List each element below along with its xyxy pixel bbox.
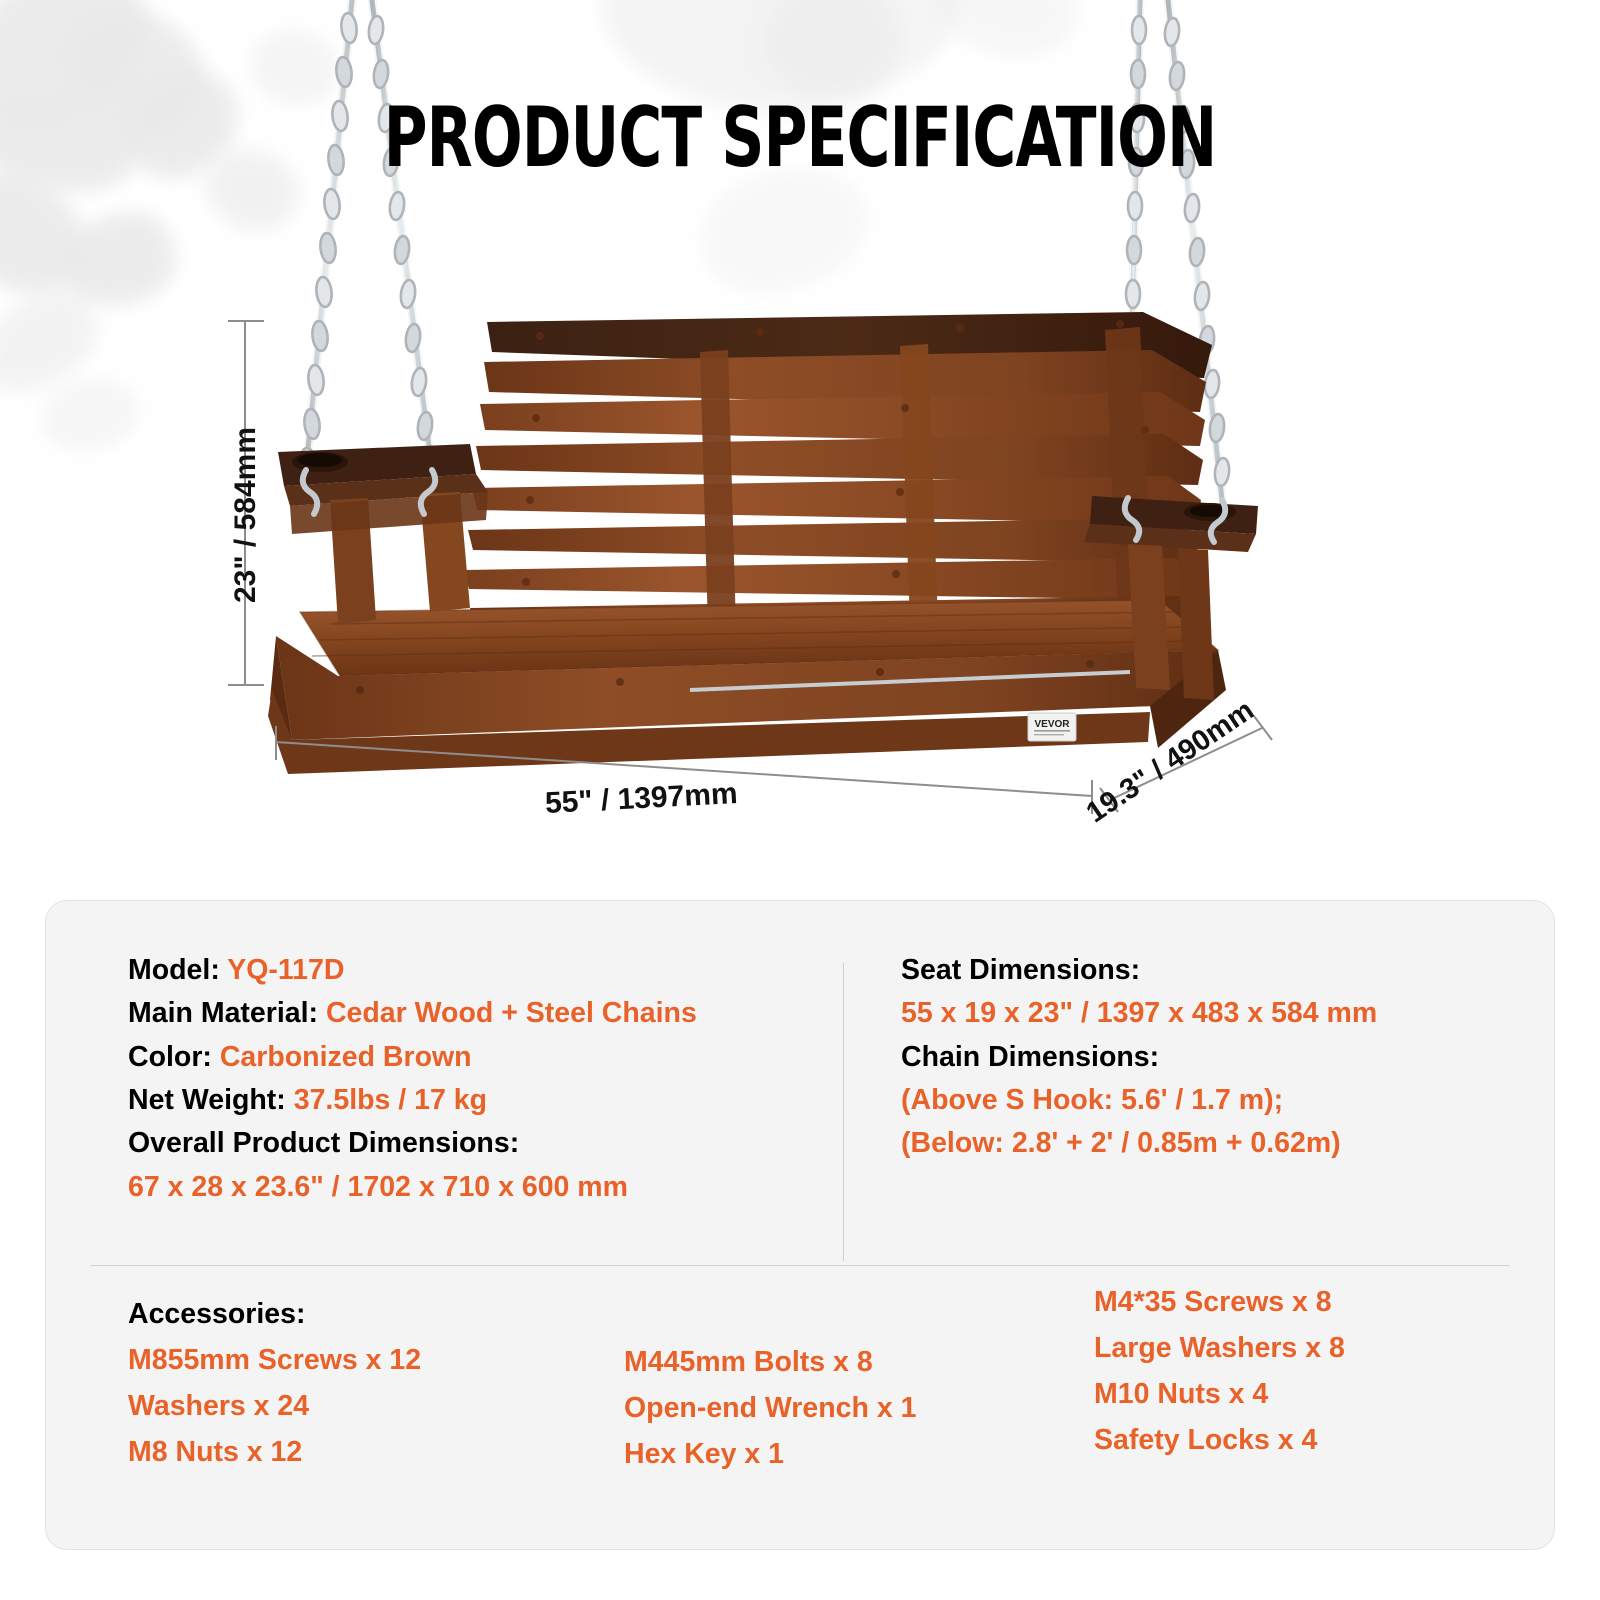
accessory-item: M855mm Screws x 12 [128, 1337, 421, 1383]
spec-value-chain-above: (Above S Hook: 5.6' / 1.7 m); [901, 1079, 1377, 1122]
spec-column-right: Seat Dimensions: 55 x 19 x 23" / 1397 x … [901, 949, 1377, 1166]
spec-label-model: Model: [128, 954, 220, 986]
backrest [464, 312, 1212, 635]
section-divider [91, 1265, 1509, 1266]
seat [268, 600, 1226, 774]
spec-value-color: Carbonized Brown [220, 1041, 472, 1073]
accessory-item: M8 Nuts x 12 [128, 1429, 421, 1475]
accessory-item: M4*35 Screws x 8 [1094, 1279, 1345, 1325]
accessory-item: M10 Nuts x 4 [1094, 1371, 1345, 1417]
spec-row-model: Model: YQ-117D [128, 949, 697, 992]
column-divider [843, 963, 844, 1261]
left-armrest [278, 444, 488, 624]
spec-label-material: Main Material: [128, 997, 318, 1029]
vevor-brand-label: VEVOR [1028, 713, 1076, 741]
spec-column-left: Model: YQ-117D Main Material: Cedar Wood… [128, 949, 697, 1209]
spec-row-color: Color: Carbonized Brown [128, 1036, 697, 1079]
spec-columns: Model: YQ-117D Main Material: Cedar Wood… [46, 901, 1554, 1251]
accessory-item: Washers x 24 [128, 1383, 421, 1429]
spec-value-overall-dimensions: 67 x 28 x 23.6" / 1702 x 710 x 600 mm [128, 1166, 697, 1209]
accessory-item: Large Washers x 8 [1094, 1325, 1345, 1371]
spec-label-chain-dimensions: Chain Dimensions: [901, 1036, 1377, 1079]
accessory-item: M445mm Bolts x 8 [624, 1339, 916, 1385]
spec-value-chain-below: (Below: 2.8' + 2' / 0.85m + 0.62m) [901, 1122, 1377, 1165]
accessory-item: Hex Key x 1 [624, 1431, 916, 1477]
accessories-column-3: M4*35 Screws x 8 Large Washers x 8 M10 N… [1094, 1279, 1345, 1464]
accessories-section: Accessories: M855mm Screws x 12 Washers … [46, 1279, 1554, 1529]
accessories-column-2: M445mm Bolts x 8 Open-end Wrench x 1 Hex… [624, 1339, 916, 1477]
accessories-column-1: Accessories: M855mm Screws x 12 Washers … [128, 1291, 421, 1476]
accessory-item: Safety Locks x 4 [1094, 1417, 1345, 1463]
spec-value-material: Cedar Wood + Steel Chains [326, 997, 697, 1029]
spec-value-model: YQ-117D [227, 954, 344, 986]
specification-panel: Model: YQ-117D Main Material: Cedar Wood… [45, 900, 1555, 1550]
spec-label-seat-dimensions: Seat Dimensions: [901, 949, 1377, 992]
page-title: PRODUCT SPECIFICATION [160, 96, 1440, 179]
spec-label-color: Color: [128, 1041, 212, 1073]
spec-row-material: Main Material: Cedar Wood + Steel Chains [128, 992, 697, 1035]
spec-value-seat-dimensions: 55 x 19 x 23" / 1397 x 483 x 584 mm [901, 992, 1377, 1035]
svg-text:VEVOR: VEVOR [1034, 719, 1070, 730]
spec-label-overall-dimensions: Overall Product Dimensions: [128, 1122, 697, 1165]
spec-label-weight: Net Weight: [128, 1084, 286, 1116]
accessories-heading: Accessories: [128, 1291, 421, 1337]
accessory-item: Open-end Wrench x 1 [624, 1385, 916, 1431]
dimension-label-height: 23" / 584mm [229, 427, 263, 603]
spec-value-weight: 37.5lbs / 17 kg [294, 1084, 487, 1116]
spec-row-weight: Net Weight: 37.5lbs / 17 kg [128, 1079, 697, 1122]
